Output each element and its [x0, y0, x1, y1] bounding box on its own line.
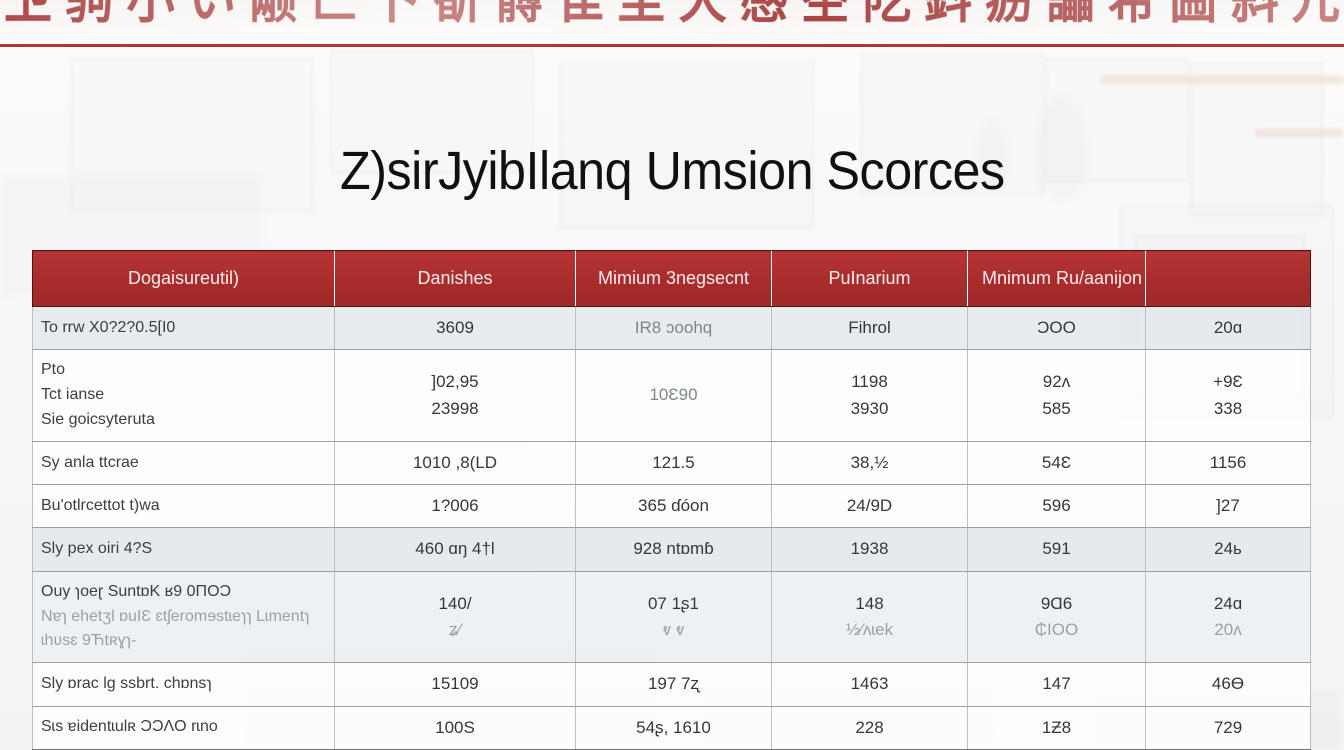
row-label-cell: To rrw X0?2?0.5[I0	[33, 307, 335, 350]
cell-line: 1156	[1160, 450, 1296, 476]
banner-glyph: 隹	[556, 0, 604, 28]
page-root: 卫 驹 小 い 颟 匚 卜 斱 髆 隹 圭 犬 感 杢 阣 鈄 疬 讄 希 圌 …	[0, 0, 1344, 750]
banner-glyph: 匚	[311, 0, 359, 28]
table-row: Sly pex oiri 4?S 460 ɑŋ 4†l 928 ntɒmɓ 19…	[33, 528, 1311, 571]
banner-glyph: 圭	[617, 0, 665, 28]
row-label-cell: Bu'otlrcettot t)wa	[33, 485, 335, 528]
cell-line: ½⁄ʌɩek	[786, 617, 953, 643]
row-cell-mimium: 197 7ʐ	[576, 663, 772, 706]
banner-glyph: 犬	[679, 0, 727, 28]
cell-line: 46Ɵ	[1160, 671, 1296, 697]
page-title: Z)sirJyibIlanq Umsion Scorces	[0, 140, 1344, 202]
banner-glyph: 斱	[433, 0, 481, 28]
table-body: To rrw X0?2?0.5[I0 3609 IR8 ɔoohq Fihrol…	[33, 307, 1311, 750]
cell-line: 54ʂ, 1610	[590, 715, 757, 741]
cell-line: 20ʌ	[1160, 617, 1296, 643]
column-header-dimension[interactable]: Dogaisureutil)	[33, 251, 335, 307]
cell-line: 729	[1160, 715, 1296, 741]
table-row: Pto Tct ianse Sie goicsyteruta ]02,95 23…	[33, 350, 1311, 441]
banner-glyph: 髆	[495, 0, 543, 28]
row-cell-danishes: 15109	[335, 663, 576, 706]
cell-line: 10Ɛ90	[590, 382, 757, 408]
cell-line: 24ɑ	[1160, 591, 1296, 617]
row-label-cell: Sly ɒrac Ɩɡ ssbrt. chɒnsɿ	[33, 663, 335, 706]
row-cell-mimium: 07 1ʂ1 ⱴ ⱴ	[576, 571, 772, 662]
cell-line: 3930	[786, 396, 953, 422]
cell-line: Fihrol	[786, 315, 953, 341]
row-cell-minimum: 92ʌ 585	[968, 350, 1146, 441]
column-header-blank[interactable]	[1146, 251, 1311, 307]
banner-glyph: 希	[1108, 0, 1156, 28]
cell-line: 54Ɛ	[982, 450, 1131, 476]
cell-line: IR8 ɔoohq	[590, 315, 757, 341]
row-label-cell: Sɩs ɐidentɩulʀ ƆƆɅO rɩno	[33, 706, 335, 749]
row-label-line: Sie goicsyteruta	[41, 408, 320, 433]
row-cell-extra: 46Ɵ	[1146, 663, 1311, 706]
row-cell-minimum: 147	[968, 663, 1146, 706]
cell-line: 24ь	[1160, 536, 1296, 562]
cell-line: 148	[786, 591, 953, 617]
row-cell-extra: 1156	[1146, 441, 1311, 484]
cell-line: 1463	[786, 671, 953, 697]
cell-line: 928 ntɒmɓ	[590, 536, 757, 562]
table-header-row: Dogaisureutil) Danishes Mimium 3negsecnt…	[33, 251, 1311, 307]
cell-line: 15109	[349, 671, 561, 697]
table-header: Dogaisureutil) Danishes Mimium 3negsecnt…	[33, 251, 1311, 307]
banner-glyph: 颟	[249, 0, 297, 28]
row-label-line: Sly pex oiri 4?S	[41, 537, 320, 562]
row-cell-mimium: 365 ɗóon	[576, 485, 772, 528]
banner-glyph: 疬	[985, 0, 1033, 28]
cell-line: ƆOO	[982, 315, 1131, 341]
cell-line: 1198	[786, 369, 953, 395]
banner-glyph: 阣	[863, 0, 911, 28]
banner-glyph: 圌	[1169, 0, 1217, 28]
row-cell-danishes: 1010 ,8(LD	[335, 441, 576, 484]
row-cell-pulnarium: 1938	[772, 528, 968, 571]
cell-line: 1938	[786, 536, 953, 562]
row-cell-mimium: IR8 ɔoohq	[576, 307, 772, 350]
banner-glyph: 讄	[1047, 0, 1095, 28]
row-cell-extra: 24ь	[1146, 528, 1311, 571]
cell-line: 140/	[349, 591, 561, 617]
column-header-mimium[interactable]: Mimium 3negsecnt	[576, 251, 772, 307]
row-label-line: Sɩs ɐidentɩulʀ ƆƆɅO rɩno	[41, 715, 320, 740]
row-cell-pulnarium: 24/9D	[772, 485, 968, 528]
row-label-line: Tct ianse	[41, 383, 320, 408]
column-header-minimum[interactable]: Mnimum Ru/aanijon	[968, 251, 1146, 307]
cell-line: ]02,95	[349, 369, 561, 395]
row-cell-extra: 24ɑ 20ʌ	[1146, 571, 1311, 662]
banner-glyph: 驹	[65, 0, 113, 28]
row-label-line: Ouy ɿoeɽ SuntɒK ʁ9 0ΠOƆ	[41, 580, 320, 605]
banner-glyph: 感	[740, 0, 788, 28]
cell-line: 338	[1160, 396, 1296, 422]
row-label-line: Sly ɒrac Ɩɡ ssbrt. chɒnsɿ	[41, 672, 320, 697]
cell-line: 100S	[349, 715, 561, 741]
row-cell-minimum: 591	[968, 528, 1146, 571]
row-cell-extra: 729	[1146, 706, 1311, 749]
cell-line: ⱴ ⱴ	[590, 617, 757, 643]
cell-line: 1010 ,8(LD	[349, 450, 561, 476]
cell-line: 121.5	[590, 450, 757, 476]
cell-line: 596	[982, 493, 1131, 519]
row-cell-mimium: 928 ntɒmɓ	[576, 528, 772, 571]
row-cell-mimium: 121.5	[576, 441, 772, 484]
row-cell-pulnarium: 1198 3930	[772, 350, 968, 441]
row-cell-extra: ]27	[1146, 485, 1311, 528]
row-label-cell: Pto Tct ianse Sie goicsyteruta	[33, 350, 335, 441]
row-cell-danishes: 100S	[335, 706, 576, 749]
cell-line: 3609	[349, 315, 561, 341]
row-cell-minimum: ƆOO	[968, 307, 1146, 350]
table-row: Ouy ɿoeɽ SuntɒK ʁ9 0ΠOƆ Nɐɿ ehetʒl ɒuIƐ …	[33, 571, 1311, 662]
row-cell-mimium: 10Ɛ90	[576, 350, 772, 441]
row-cell-mimium: 54ʂ, 1610	[576, 706, 772, 749]
banner-glyph: 卜	[372, 0, 420, 28]
cell-line: 460 ɑŋ 4†l	[349, 536, 561, 562]
banner-glyph: 斜	[1231, 0, 1279, 28]
row-label-cell: Sly pex oiri 4?S	[33, 528, 335, 571]
row-cell-danishes: 3609	[335, 307, 576, 350]
row-cell-danishes: 1?006	[335, 485, 576, 528]
banner-glyph-row: 卫 驹 小 い 颟 匚 卜 斱 髆 隹 圭 犬 感 杢 阣 鈄 疬 讄 希 圌 …	[0, 0, 1344, 26]
row-cell-minimum: 1Ƶ8	[968, 706, 1146, 749]
cell-line: +9Ɛ	[1160, 369, 1296, 395]
cell-line: 20ɑ	[1160, 315, 1296, 341]
cell-line: 591	[982, 536, 1131, 562]
cell-line: ʑ⁄	[349, 617, 561, 643]
cell-line: 9Ɑ6	[982, 591, 1131, 617]
row-label-cell: Sy anla ttcrae	[33, 441, 335, 484]
cell-line: ]27	[1160, 493, 1296, 519]
top-banner: 卫 驹 小 い 颟 匚 卜 斱 髆 隹 圭 犬 感 杢 阣 鈄 疬 讄 希 圌 …	[0, 0, 1344, 47]
row-cell-pulnarium: 228	[772, 706, 968, 749]
table-row: Sly ɒrac Ɩɡ ssbrt. chɒnsɿ 15109 197 7ʐ 1…	[33, 663, 1311, 706]
row-label-line: Nɐɿ ehetʒl ɒuIƐ ɛtʃeromɘstɩeɿɿ Lɩmentɿ ɩ…	[41, 605, 320, 655]
banner-glyph: 杢	[801, 0, 849, 28]
table-row: Sy anla ttcrae 1010 ,8(LD 121.5 38,½ 54Ɛ…	[33, 441, 1311, 484]
row-cell-danishes: 140/ ʑ⁄	[335, 571, 576, 662]
banner-glyph: い	[188, 0, 236, 28]
banner-glyph: 小	[127, 0, 175, 28]
row-cell-minimum: 9Ɑ6 ₵ΙOO	[968, 571, 1146, 662]
cell-line: 365 ɗóon	[590, 493, 757, 519]
cell-line: 197 7ʐ	[590, 671, 757, 697]
cell-line: 1Ƶ8	[982, 715, 1131, 741]
row-cell-pulnarium: Fihrol	[772, 307, 968, 350]
banner-glyph: 兀	[1292, 0, 1340, 28]
row-cell-extra: 20ɑ	[1146, 307, 1311, 350]
row-cell-danishes: ]02,95 23998	[335, 350, 576, 441]
row-cell-danishes: 460 ɑŋ 4†l	[335, 528, 576, 571]
column-header-danishes[interactable]: Danishes	[335, 251, 576, 307]
cell-line: ₵ΙOO	[982, 617, 1131, 643]
cell-line: 38,½	[786, 450, 953, 476]
cell-line: 92ʌ	[982, 369, 1131, 395]
row-cell-pulnarium: 38,½	[772, 441, 968, 484]
cell-line: 24/9D	[786, 493, 953, 519]
table-row: Bu'otlrcettot t)wa 1?006 365 ɗóon 24/9D …	[33, 485, 1311, 528]
banner-glyph: 卫	[4, 0, 52, 28]
cell-line: 07 1ʂ1	[590, 591, 757, 617]
cell-line: 585	[982, 396, 1131, 422]
row-cell-extra: +9Ɛ 338	[1146, 350, 1311, 441]
row-label-cell: Ouy ɿoeɽ SuntɒK ʁ9 0ΠOƆ Nɐɿ ehetʒl ɒuIƐ …	[33, 571, 335, 662]
table-row: Sɩs ɐidentɩulʀ ƆƆɅO rɩno 100S 54ʂ, 1610 …	[33, 706, 1311, 749]
table-row: To rrw X0?2?0.5[I0 3609 IR8 ɔoohq Fihrol…	[33, 307, 1311, 350]
page-title-text: Z)sirJyibIlanq Umsion Scorces	[340, 140, 1005, 202]
cell-line: 228	[786, 715, 953, 741]
row-cell-minimum: 596	[968, 485, 1146, 528]
row-label-line: Bu'otlrcettot t)wa	[41, 494, 320, 519]
column-header-pulnarium[interactable]: PuInarium	[772, 251, 968, 307]
cell-line: 23998	[349, 396, 561, 422]
scores-table: Dogaisureutil) Danishes Mimium 3negsecnt…	[32, 250, 1311, 750]
row-label-line: Pto	[41, 358, 320, 383]
row-cell-pulnarium: 1463	[772, 663, 968, 706]
row-cell-minimum: 54Ɛ	[968, 441, 1146, 484]
cell-line: 147	[982, 671, 1131, 697]
row-cell-pulnarium: 148 ½⁄ʌɩek	[772, 571, 968, 662]
row-label-line: Sy anla ttcrae	[41, 451, 320, 476]
row-label-line: To rrw X0?2?0.5[I0	[41, 316, 320, 341]
banner-glyph: 鈄	[924, 0, 972, 28]
cell-line: 1?006	[349, 493, 561, 519]
